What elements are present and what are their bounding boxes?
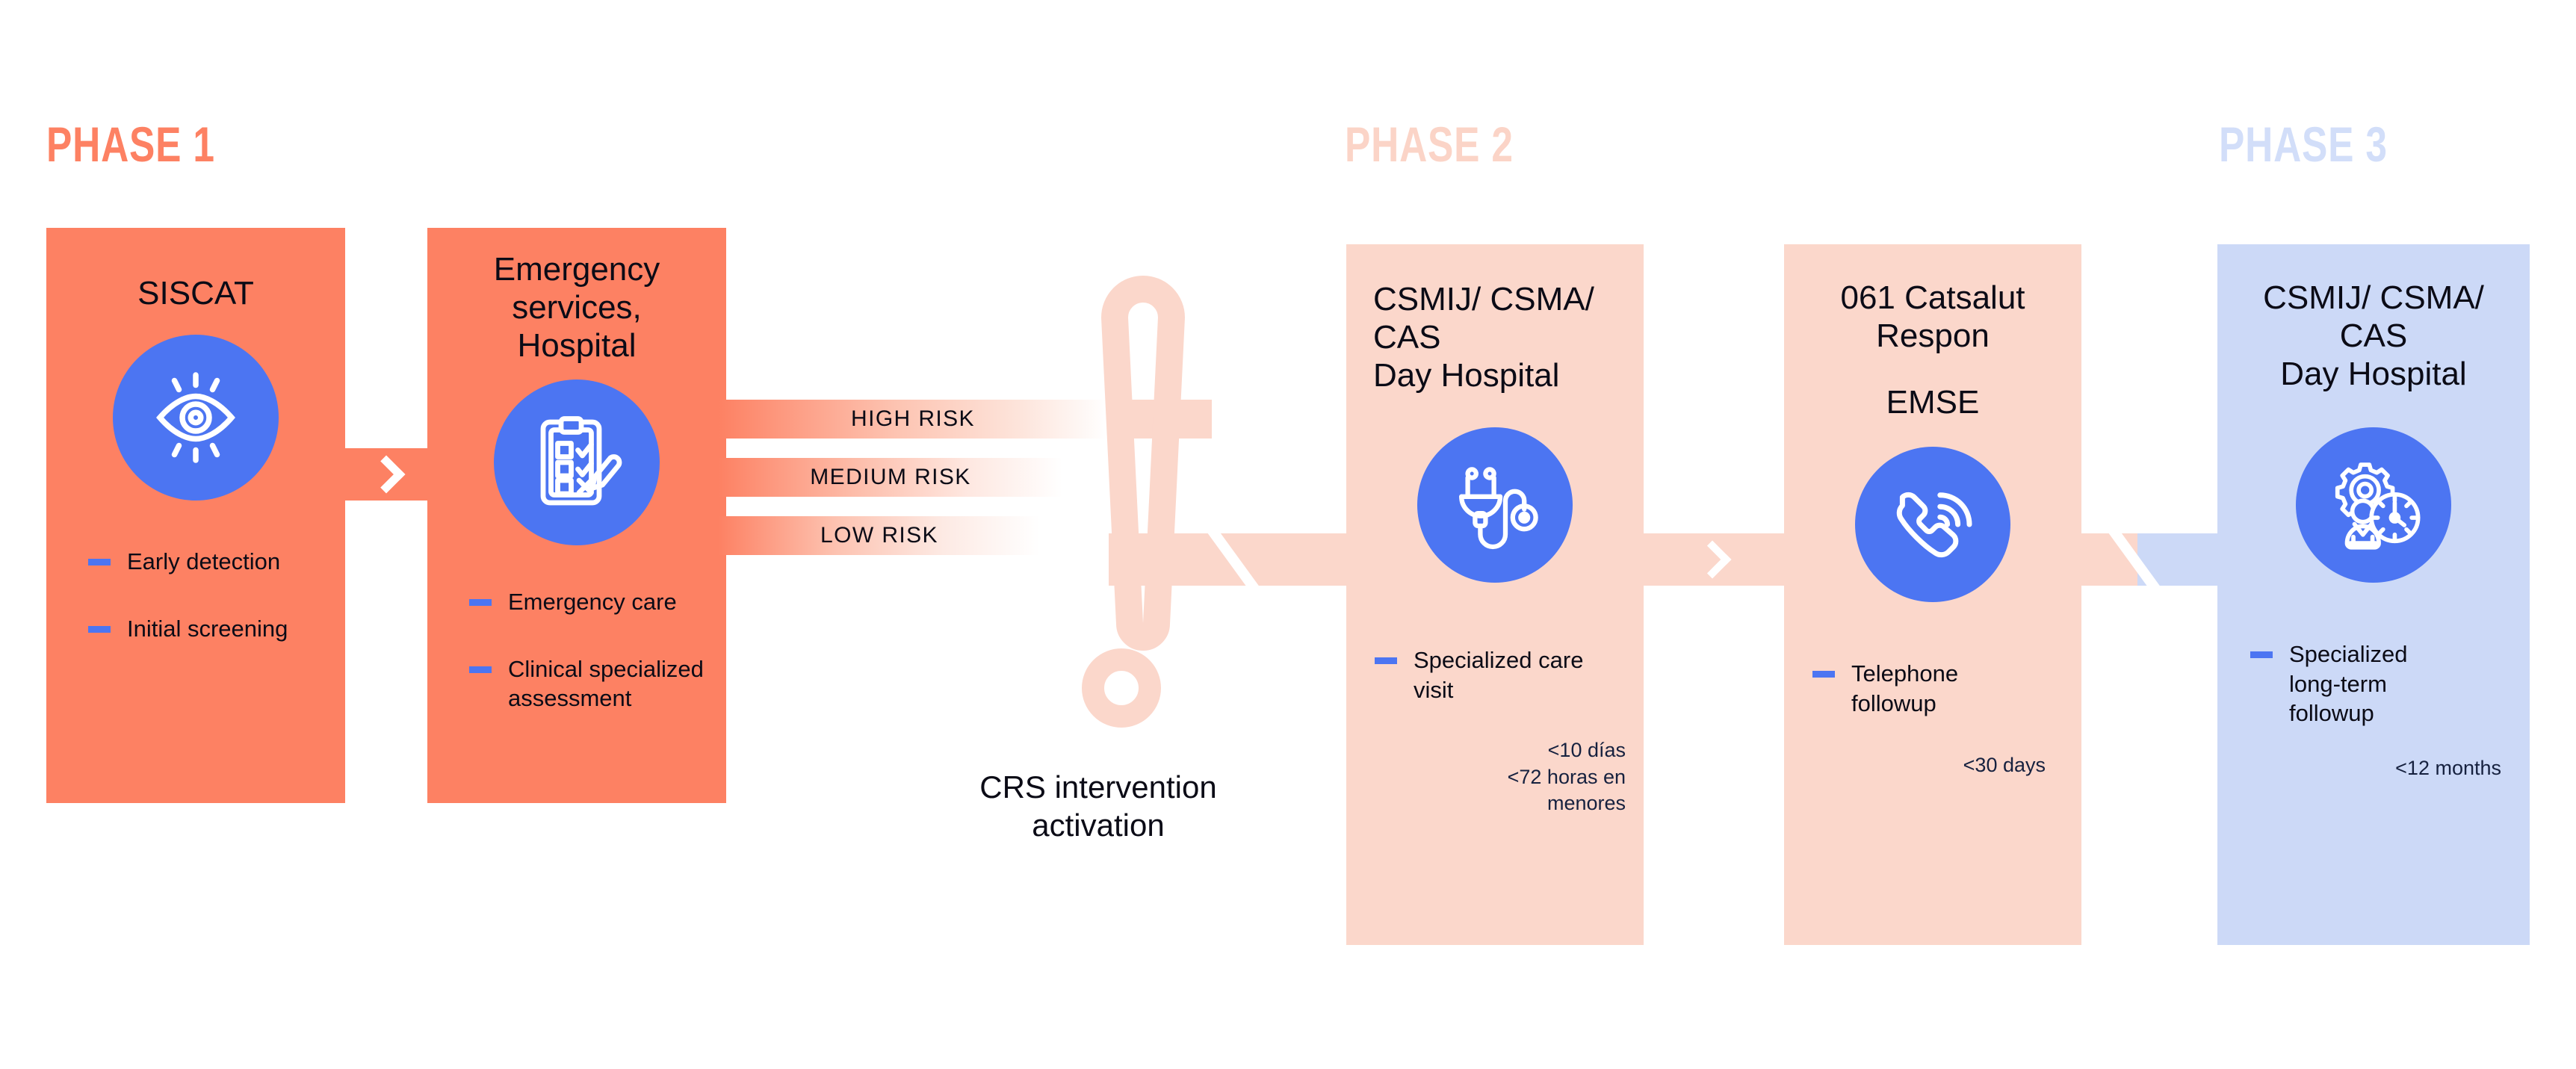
card-emergency-title: Emergency services, Hospital [494,250,660,365]
risk-label-medium: MEDIUM RISK [810,465,970,490]
stethoscope-icon [1417,427,1573,583]
phase-2-title: PHASE 2 [1345,120,1514,169]
card-061-title: 061 Catsalut Respon [1840,279,2025,355]
card-csmij3-bullets: Specialized long-term followup [2217,639,2530,728]
chevron-right-icon [368,456,406,494]
phone-ringing-icon [1855,447,2010,602]
card-csmij2-sla: <10 días <72 horas en menores [1346,737,1644,816]
risk-bar-low: LOW RISK [719,516,1040,555]
eye-icon [113,335,279,501]
card-csmij-phase2[interactable]: CSMIJ/ CSMA/ CAS Day Hospital Specialize… [1346,244,1644,945]
list-item: Initial screening [127,614,345,644]
card-csmij3-title: CSMIJ/ CSMA/ CAS Day Hospital [2263,279,2484,393]
card-siscat[interactable]: SISCAT Early detection Initial screening [46,228,345,803]
list-item: Specialized care visit [1414,645,1583,704]
card-061-sla: <30 days [1784,752,2081,778]
card-csmij-phase3[interactable]: CSMIJ/ CSMA/ CAS Day Hospital [2217,244,2530,945]
exclamation-mark-icon [1068,273,1218,691]
crs-activation-label: CRS intervention activation [897,768,1300,844]
slash-divider [1202,533,1263,586]
chevron-right-icon [1694,541,1732,579]
card-siscat-title: SISCAT [137,274,254,312]
connector-csmij2-to-061 [1636,533,1792,586]
risk-bar-high: HIGH RISK [719,400,1107,439]
card-061-bullets: Telephone followup [1784,659,2081,718]
phase-1-title: PHASE 1 [46,120,215,169]
card-siscat-icon-wrap [113,335,279,501]
risk-label-high: HIGH RISK [851,406,975,432]
card-csmij3-icon-wrap [2296,427,2451,583]
list-item: Telephone followup [1851,659,2071,718]
list-item: Clinical specialized assessment [508,654,717,713]
list-item: Emergency care [508,587,717,617]
list-item: Specialized long-term followup [2289,639,2519,728]
diagram-canvas: PHASE 1 PHASE 2 PHASE 3 SISCAT Early det… [0,0,2576,1069]
phase-3-title: PHASE 3 [2219,120,2388,169]
card-emergency-icon-wrap [494,379,660,545]
card-emergency-bullets: Emergency care Clinical specialized asse… [427,587,726,713]
card-csmij2-title: CSMIJ/ CSMA/ CAS Day Hospital [1346,280,1594,394]
risk-bar-medium: MEDIUM RISK [719,458,1062,497]
card-csmij3-sla: <12 months [2217,755,2530,781]
person-gear-clock-icon [2296,427,2451,583]
connector-activation-to-phase2 [1109,533,1346,586]
card-emergency-services[interactable]: Emergency services, Hospital Emergenc [427,228,726,803]
connector-061-to-csmij3 [2074,533,2225,586]
list-item: Early detection [127,547,345,577]
card-csmij2-bullets: Specialized care visit [1346,645,1594,704]
clipboard-checklist-icon [494,379,660,545]
card-siscat-bullets: Early detection Initial screening [46,547,345,643]
card-csmij2-icon-wrap [1346,427,1644,583]
card-061-icon-wrap [1855,447,2010,602]
exclamation-dot-icon [1077,644,1165,732]
card-061-subtitle: EMSE [1886,383,1980,421]
risk-label-low: LOW RISK [820,523,938,548]
connector-siscat-to-emergency [340,448,436,501]
slash-divider [2103,533,2164,586]
card-061-catsalut[interactable]: 061 Catsalut Respon EMSE Telephone follo… [1784,244,2081,945]
